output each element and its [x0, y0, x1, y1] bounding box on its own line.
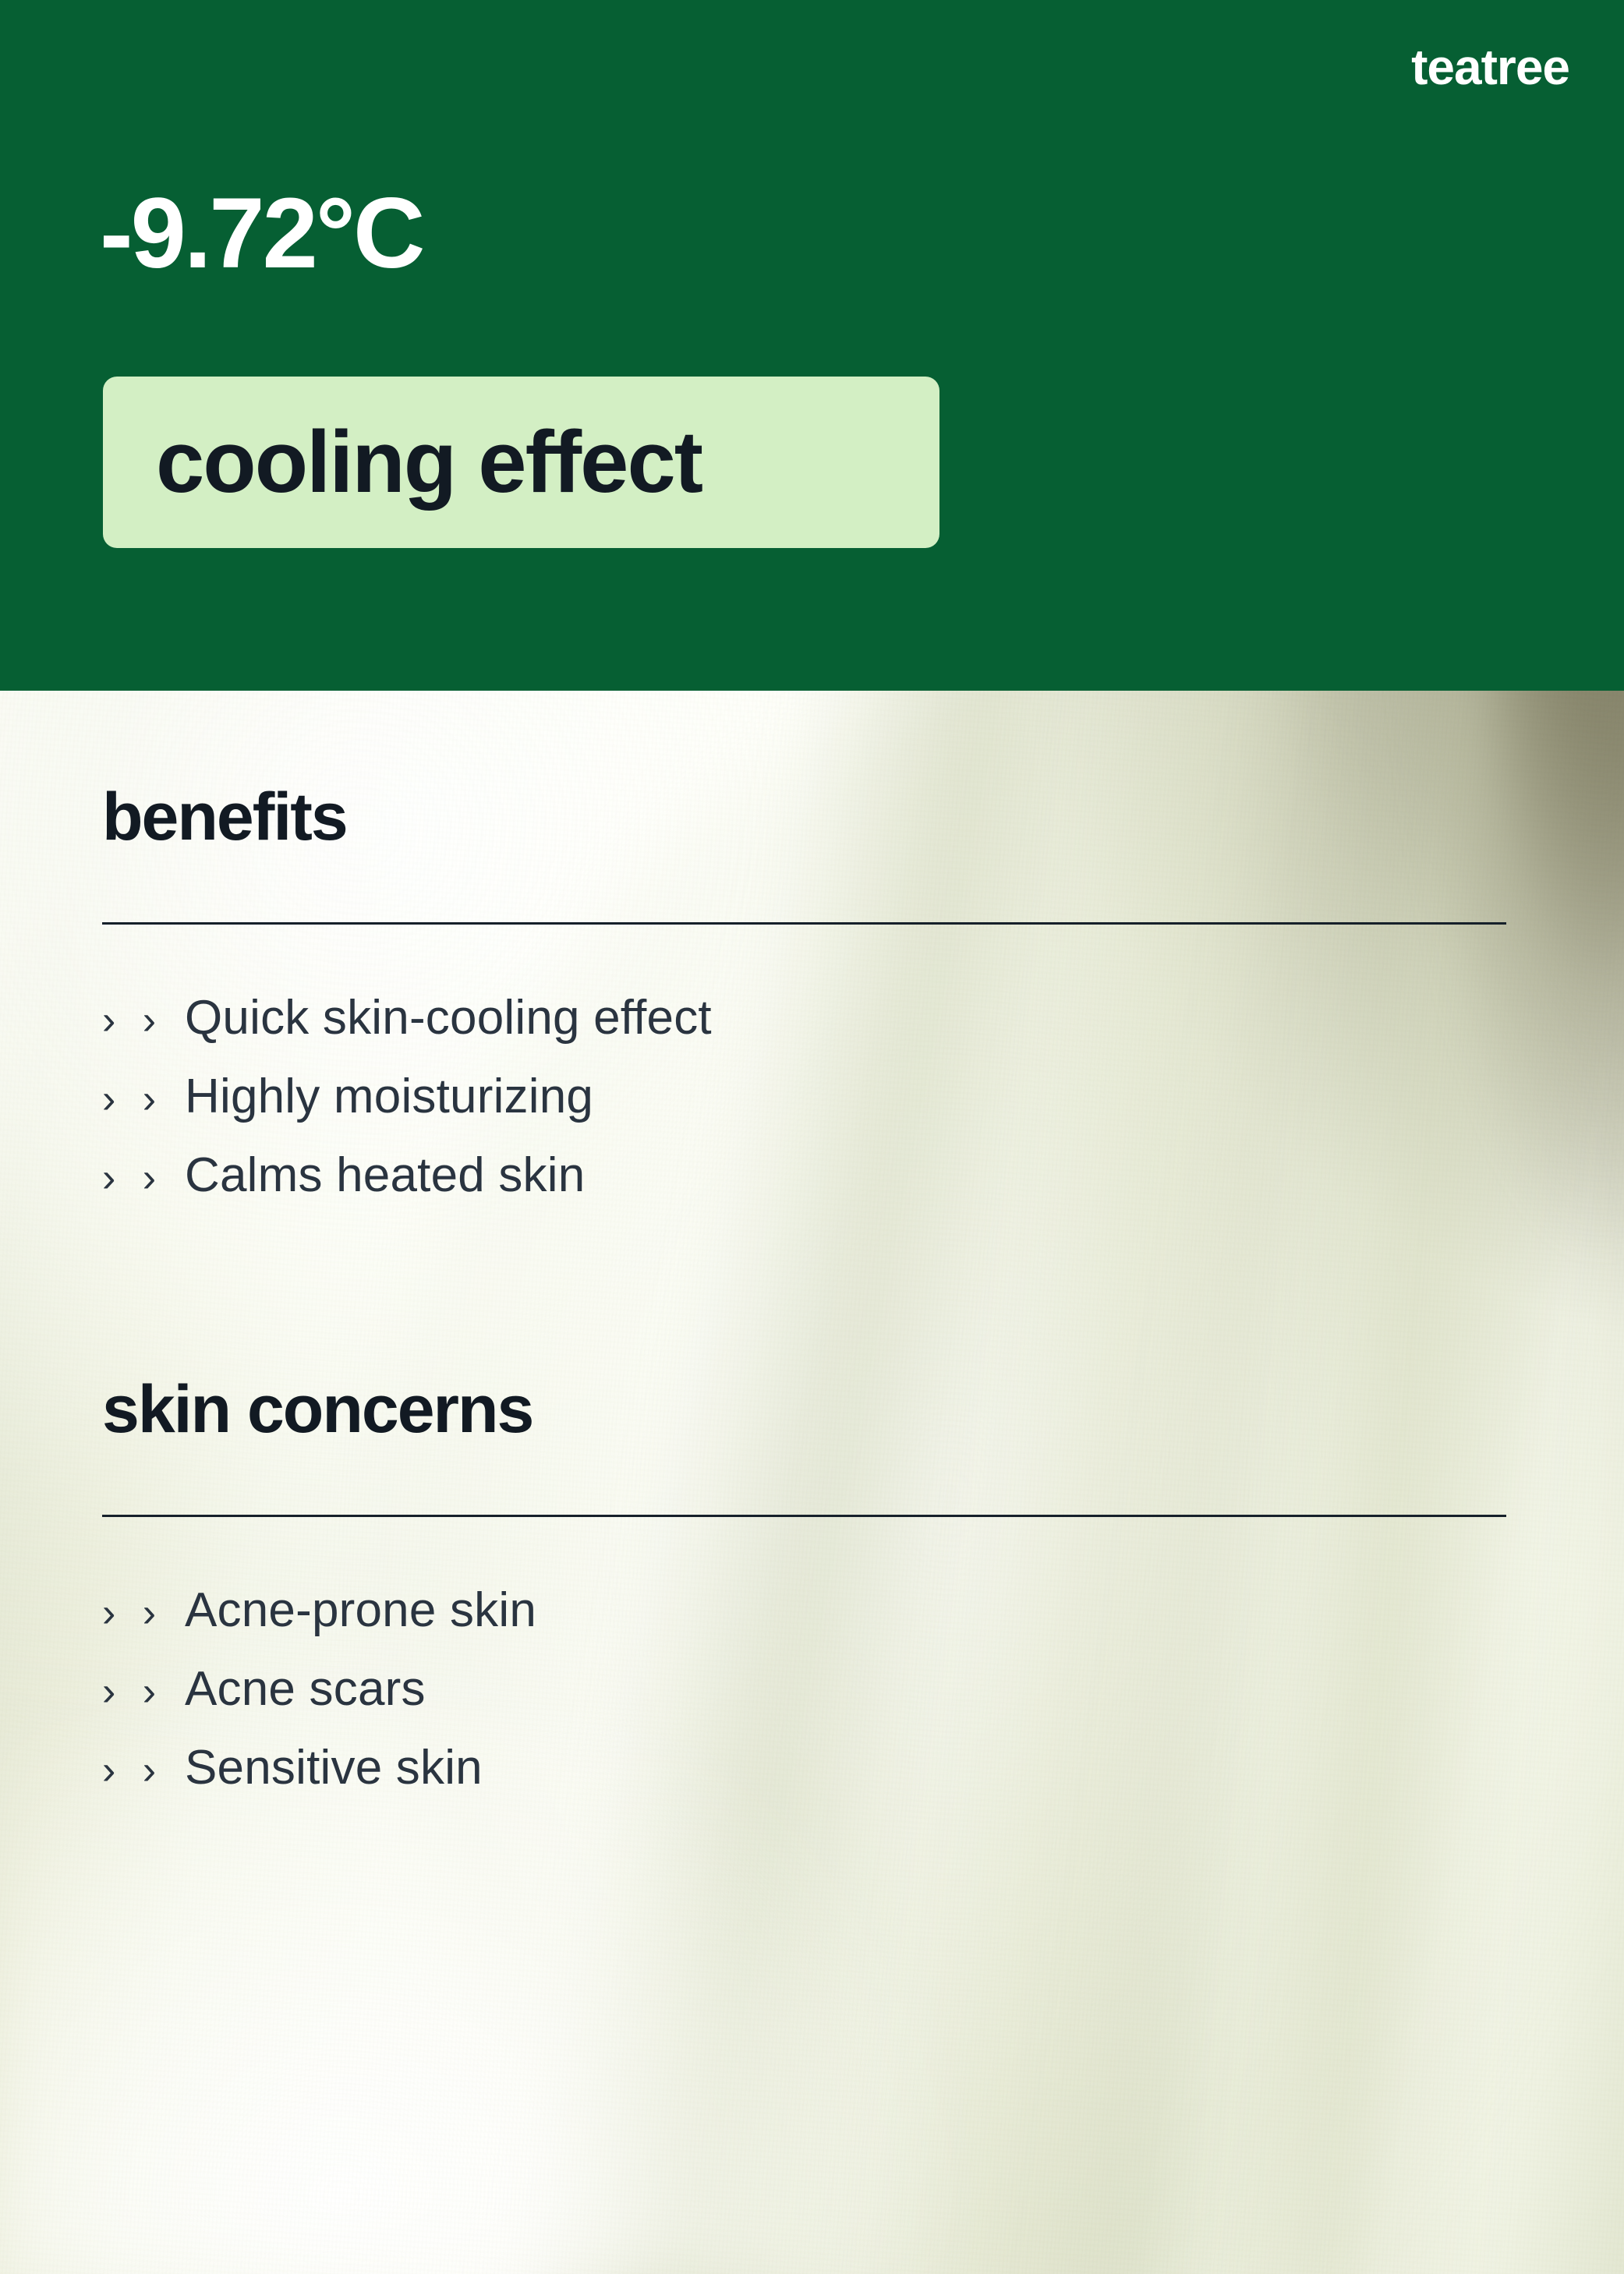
list-item-label: Acne scars: [185, 1664, 426, 1713]
section-benefits-list: › › Quick skin-cooling effect › › Highly…: [102, 993, 1506, 1201]
section-skin-concerns-divider: [102, 1515, 1506, 1517]
list-item-label: Highly moisturizing: [185, 1072, 593, 1121]
brand-logo: teatree: [1411, 42, 1569, 92]
chevron-double-right-icon: › ›: [102, 1158, 185, 1199]
section-skin-concerns: skin concerns › › Acne-prone skin › › Ac…: [102, 1376, 1506, 1823]
list-item: › › Highly moisturizing: [102, 1072, 1506, 1121]
list-item: › › Acne scars: [102, 1664, 1506, 1713]
chevron-double-right-icon: › ›: [102, 1000, 185, 1042]
section-benefits: benefits › › Quick skin-cooling effect ›…: [102, 783, 1506, 1230]
cooling-effect-badge: cooling effect: [103, 377, 939, 548]
list-item: › › Quick skin-cooling effect: [102, 993, 1506, 1042]
list-item: › › Sensitive skin: [102, 1743, 1506, 1792]
list-item: › › Acne-prone skin: [102, 1586, 1506, 1635]
chevron-double-right-icon: › ›: [102, 1593, 185, 1634]
list-item-label: Sensitive skin: [185, 1743, 483, 1792]
section-skin-concerns-list: › › Acne-prone skin › › Acne scars › › S…: [102, 1586, 1506, 1793]
list-item-label: Acne-prone skin: [185, 1586, 536, 1635]
chevron-double-right-icon: › ›: [102, 1671, 185, 1713]
cooling-effect-badge-label: cooling effect: [156, 419, 702, 506]
list-item: › › Calms heated skin: [102, 1151, 1506, 1200]
temperature-value: -9.72°C: [100, 184, 423, 284]
section-benefits-title: benefits: [102, 783, 1506, 851]
list-item-label: Calms heated skin: [185, 1151, 585, 1200]
section-skin-concerns-title: skin concerns: [102, 1376, 1506, 1443]
header-banner: teatree -9.72°C cooling effect: [0, 0, 1624, 691]
list-item-label: Quick skin-cooling effect: [185, 993, 712, 1042]
product-info-card: teatree -9.72°C cooling effect benefits …: [0, 0, 1624, 2274]
chevron-double-right-icon: › ›: [102, 1079, 185, 1120]
section-benefits-divider: [102, 922, 1506, 925]
chevron-double-right-icon: › ›: [102, 1750, 185, 1791]
